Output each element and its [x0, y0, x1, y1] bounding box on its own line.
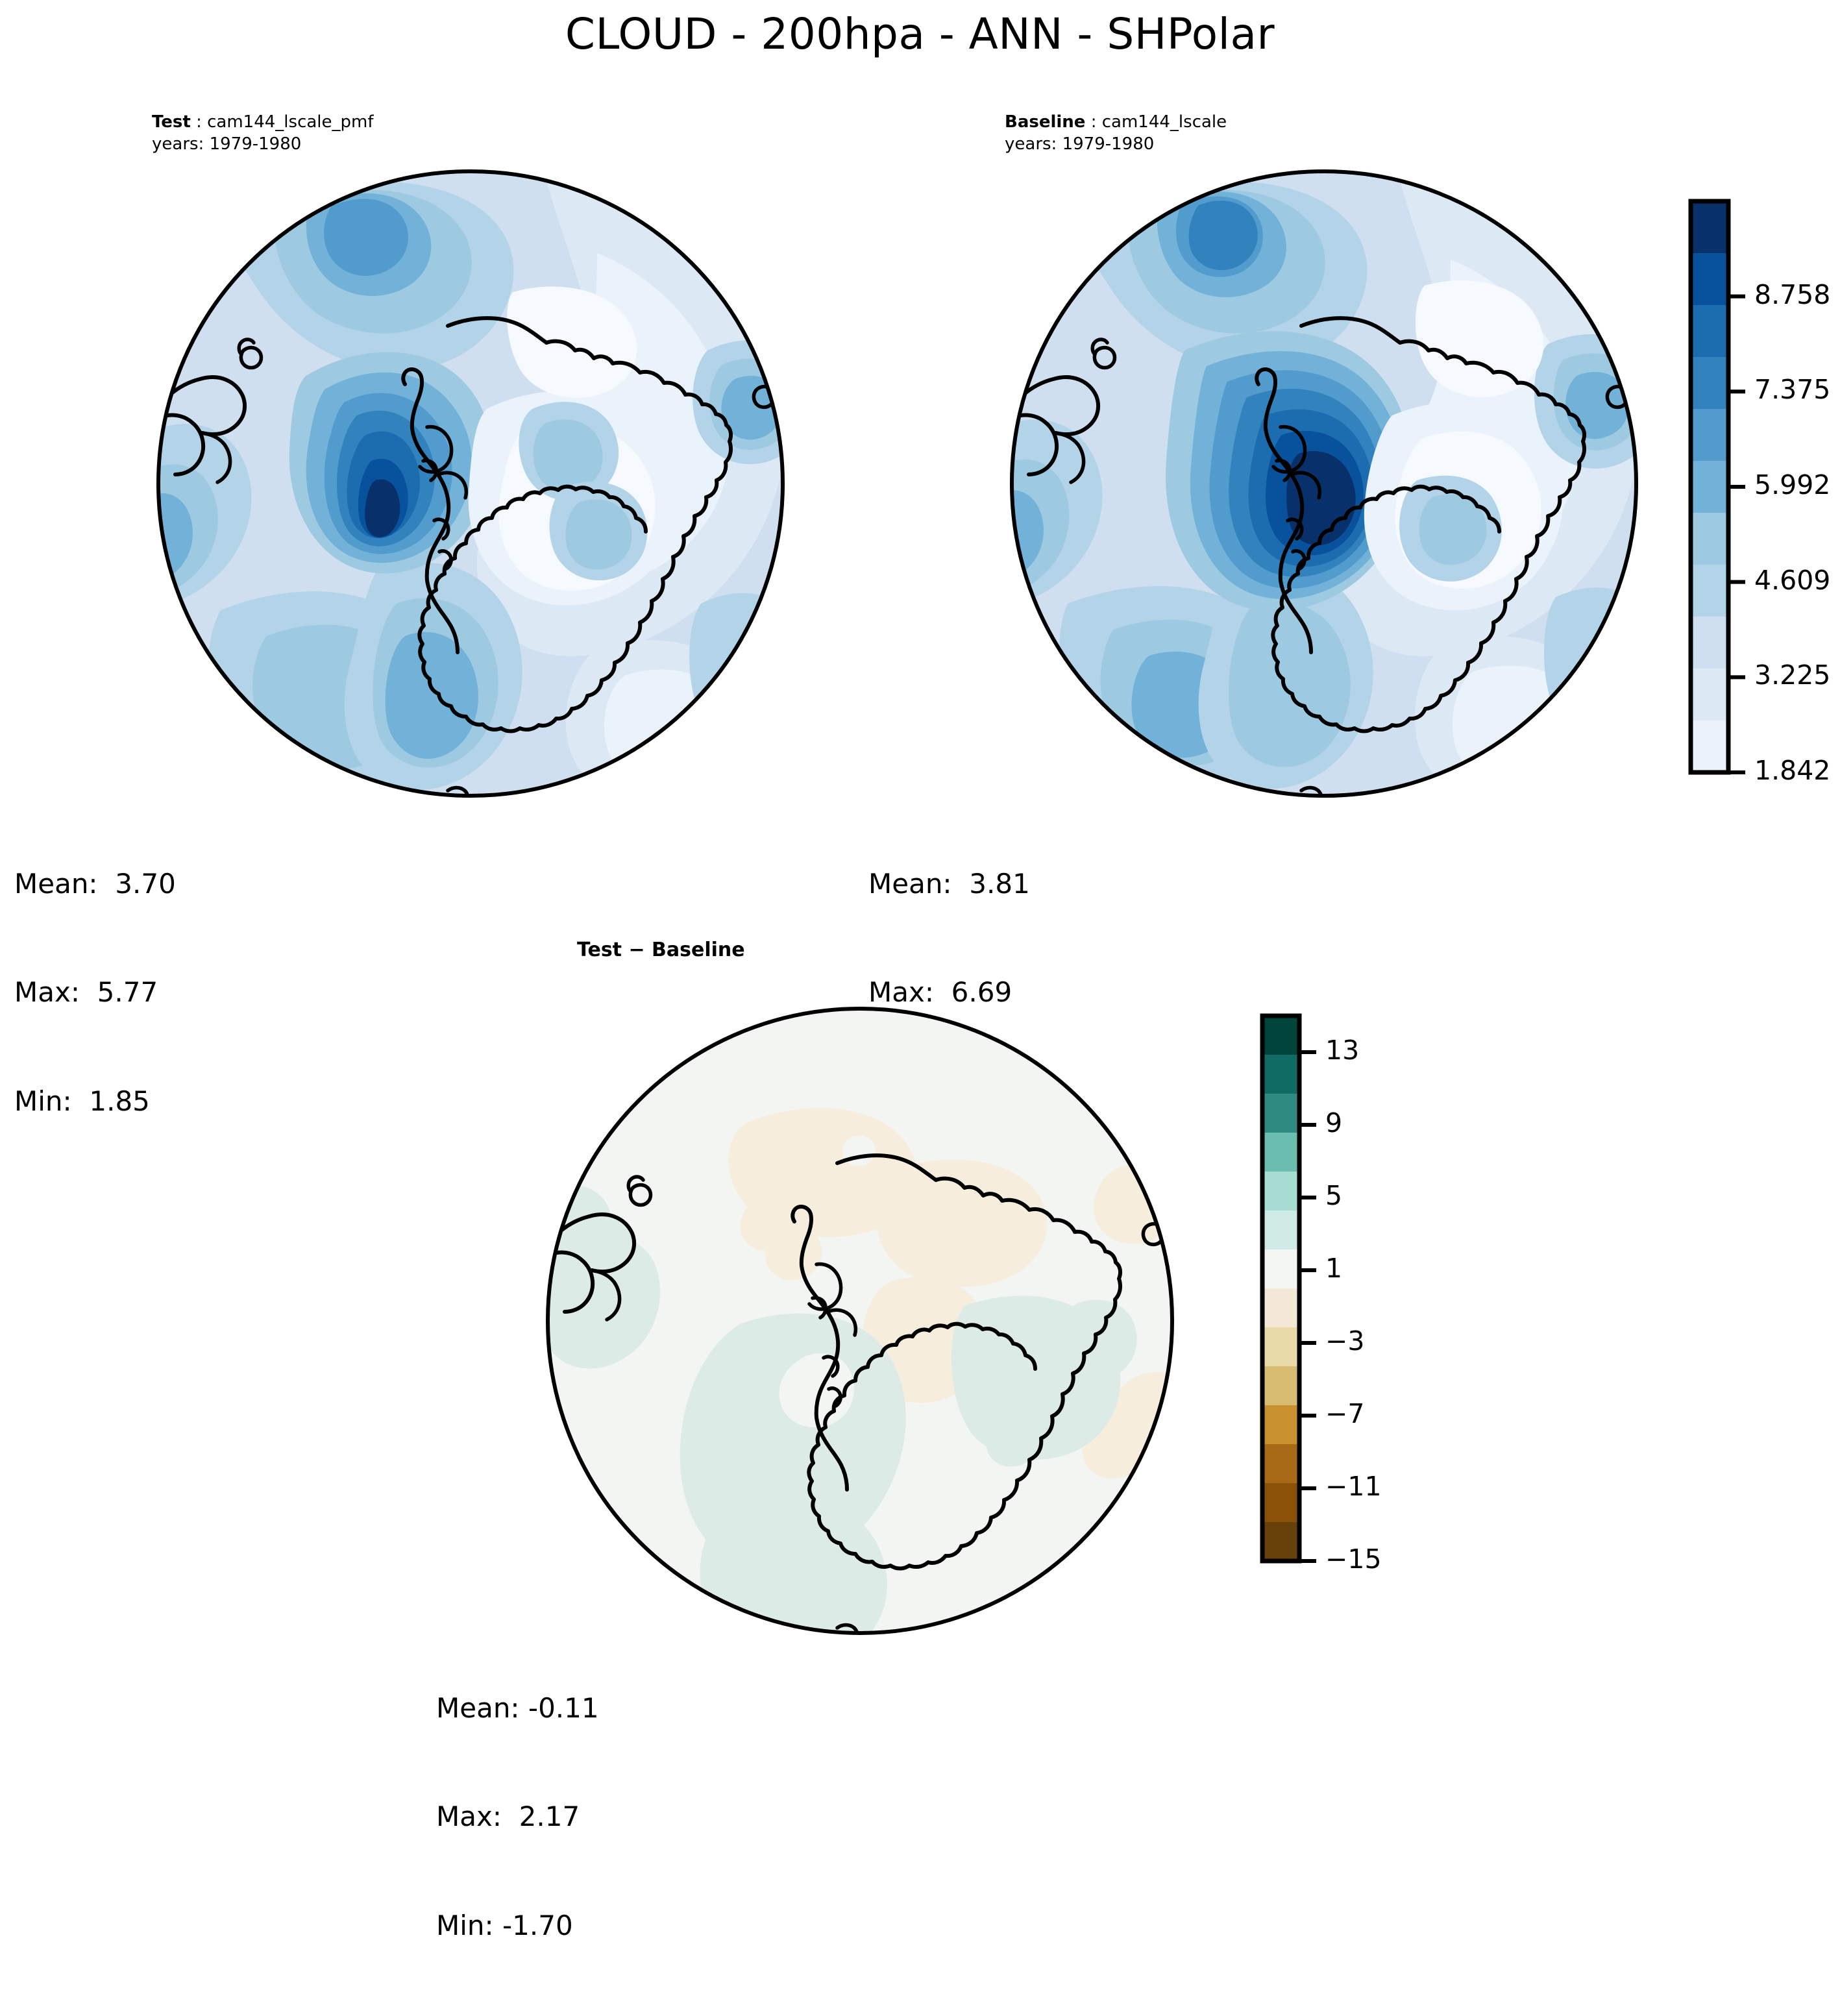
colorbar-band	[1262, 1327, 1299, 1367]
colorbar-band	[1691, 720, 1728, 773]
colorbar-band	[1691, 409, 1728, 461]
diff-contour-field	[532, 993, 1196, 1649]
baseline-case-name: cam144_lscale	[1102, 112, 1227, 132]
diff-stat-min: Min: -1.70	[436, 1908, 599, 1944]
test-stats: Mean: 3.70 Max: 5.77 Min: 1.85	[14, 793, 176, 1192]
colorbar-band	[1262, 1172, 1299, 1211]
colorbar-tick-label: −7	[1325, 1398, 1364, 1429]
colorbar-tick-label: −11	[1325, 1471, 1382, 1502]
colorbar-band	[1691, 253, 1728, 306]
colorbar-band	[1262, 1405, 1299, 1445]
colorbar-band	[1262, 1016, 1299, 1055]
colorbar-band	[1691, 357, 1728, 410]
colorbar-tick-label: 5.992	[1754, 469, 1830, 500]
colorbar-band	[1262, 1366, 1299, 1406]
colorbar-tick-label: 4.609	[1754, 565, 1830, 596]
page-title: CLOUD - 200hpa - ANN - SHPolar	[0, 9, 1840, 59]
baseline-panel-label: Baseline : cam144_lscale years: 1979-198…	[1005, 112, 1227, 156]
colorbar-band	[1691, 305, 1728, 358]
diff-stats: Mean: -0.11 Max: 2.17 Min: -1.70	[436, 1617, 599, 2016]
baseline-stat-mean: Mean: 3.81	[868, 866, 1030, 902]
colorbar-band	[1262, 1133, 1299, 1172]
colorbar-tick-label: 9	[1325, 1107, 1342, 1138]
test-years: years: 1979-1980	[152, 134, 374, 156]
colorbar-band	[1691, 565, 1728, 617]
colorbar-band	[1691, 461, 1728, 513]
colorbar-tick-label: 5	[1325, 1180, 1342, 1211]
colorbar-tick-label: −3	[1325, 1325, 1364, 1357]
test-role-label: Test	[152, 112, 191, 132]
test-separator: :	[191, 112, 207, 132]
diff-colorbar[interactable]	[1253, 1006, 1402, 1590]
test-panel-label: Test : cam144_lscale_pmf years: 1979-198…	[152, 112, 374, 156]
diff-map	[532, 993, 1188, 1649]
baseline-separator: :	[1085, 112, 1101, 132]
colorbar-band	[1262, 1483, 1299, 1523]
baseline-years: years: 1979-1980	[1005, 134, 1227, 156]
test-stat-max: Max: 5.77	[14, 974, 176, 1011]
diff-stat-mean: Mean: -0.11	[436, 1690, 599, 1727]
colorbar-band	[1262, 1055, 1299, 1094]
colorbar-band	[1691, 513, 1728, 565]
colorbar-band	[1262, 1249, 1299, 1289]
colorbar-band	[1262, 1522, 1299, 1562]
test-stat-min: Min: 1.85	[14, 1083, 176, 1120]
colorbar-band	[1691, 617, 1728, 669]
colorbar-band	[1262, 1288, 1299, 1328]
colorbar-tick-label: 3.225	[1754, 659, 1830, 691]
baseline-role-label: Baseline	[1005, 112, 1085, 132]
colorbar-band	[1691, 669, 1728, 721]
colorbar-tick-label: 8.758	[1754, 279, 1830, 310]
colorbar-tick-label: −15	[1325, 1543, 1382, 1575]
test-stat-mean: Mean: 3.70	[14, 866, 176, 902]
colorbar-tick-label: 13	[1325, 1035, 1359, 1066]
colorbar-band	[1262, 1211, 1299, 1250]
colorbar-band	[1262, 1444, 1299, 1484]
test-case-name: cam144_lscale_pmf	[207, 112, 373, 132]
colorbar-band	[1262, 1094, 1299, 1133]
colorbar-tick-label: 7.375	[1754, 374, 1830, 405]
diff-panel-title: Test − Baseline	[577, 939, 745, 961]
baseline-map	[996, 156, 1652, 811]
colorbar-tick-label: 1	[1325, 1253, 1342, 1284]
diff-stat-max: Max: 2.17	[436, 1799, 599, 1835]
colorbar-tick-label: 1.842	[1754, 755, 1830, 786]
test-contour-field	[143, 156, 812, 811]
figure-canvas: CLOUD - 200hpa - ANN - SHPolar Test : ca…	[0, 0, 1840, 1731]
colorbar-band	[1691, 201, 1728, 254]
baseline-contour-field	[996, 156, 1662, 811]
test-map	[143, 156, 798, 811]
